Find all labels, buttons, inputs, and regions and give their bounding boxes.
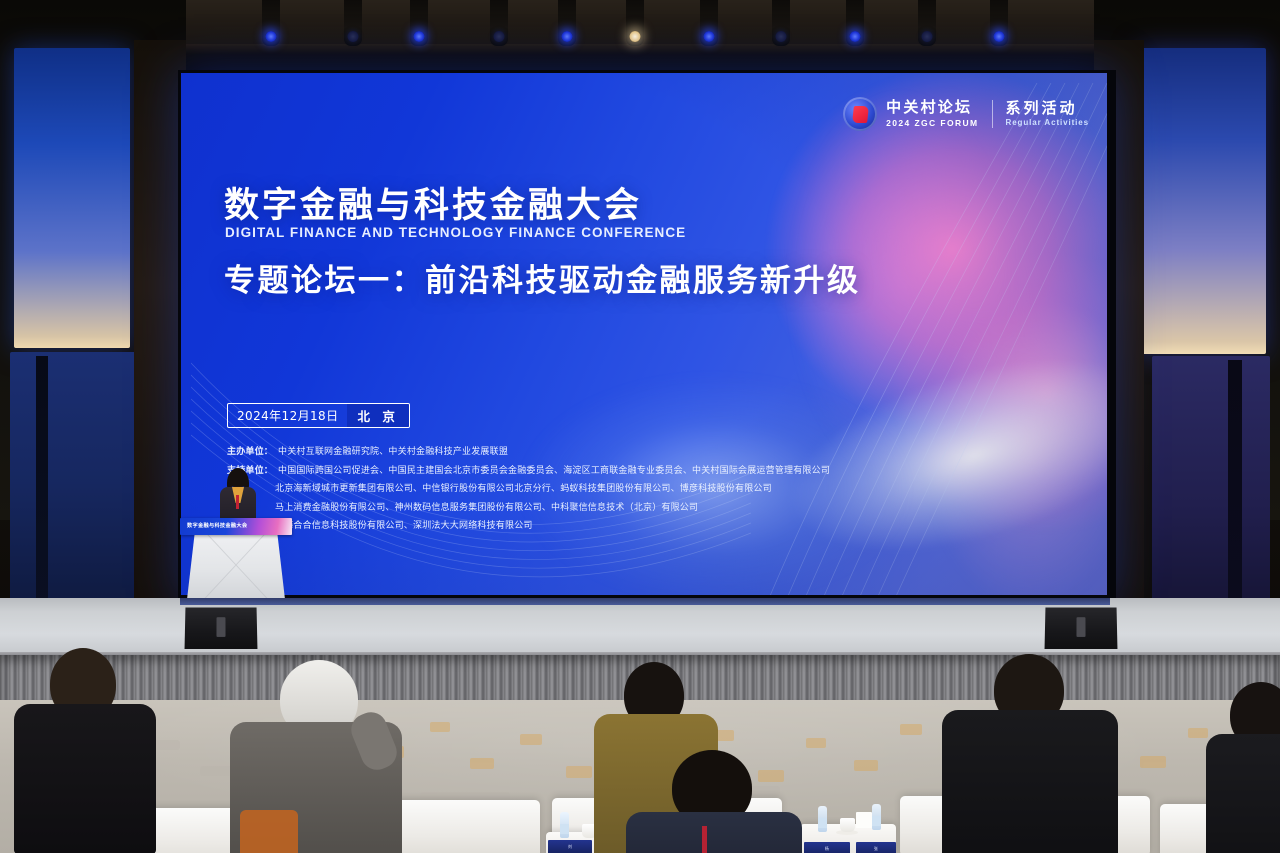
person-body bbox=[942, 710, 1118, 853]
stage-light-fixture bbox=[344, 0, 362, 46]
name-card-text: 杨 bbox=[804, 842, 850, 853]
water-bottle bbox=[872, 804, 881, 830]
wall-panel-lit-right bbox=[1138, 48, 1266, 354]
organizer-line: 主办单位：中关村互联网金融研究院、中关村金融科技产业发展联盟 bbox=[227, 443, 917, 462]
zgc-forum-logo: 中关村论坛 2024 ZGC FORUM 系列活动 Regular Activi… bbox=[843, 97, 1089, 131]
organizer-label: 主办单位： bbox=[227, 447, 273, 457]
led-screen: 中关村论坛 2024 ZGC FORUM 系列活动 Regular Activi… bbox=[178, 70, 1116, 604]
audience-person bbox=[18, 648, 148, 853]
zgc-emblem-icon bbox=[843, 97, 877, 131]
organizer-text: 上海合合信息科技股份有限公司、深圳法大大网络科技有限公司 bbox=[275, 521, 533, 531]
conference-title-en: DIGITAL FINANCE AND TECHNOLOGY FINANCE C… bbox=[225, 225, 686, 240]
audience-person bbox=[1214, 682, 1280, 853]
stage-light-fixture bbox=[410, 0, 428, 46]
audience-person bbox=[946, 654, 1106, 853]
logo-divider bbox=[992, 100, 993, 128]
audience-person bbox=[218, 660, 408, 853]
water-bottle bbox=[560, 812, 569, 838]
name-card: 刘 bbox=[548, 840, 592, 853]
name-card: 杨 bbox=[804, 842, 850, 853]
zgc-series-en: Regular Activities bbox=[1006, 118, 1089, 127]
organizer-text: 中关村互联网金融研究院、中关村金融科技产业发展联盟 bbox=[278, 447, 508, 457]
zgc-logo-cn: 中关村论坛 bbox=[886, 100, 978, 116]
event-city: 北 京 bbox=[347, 404, 408, 427]
organizer-text: 马上消费金融股份有限公司、神州数码信息服务集团股份有限公司、中科聚信信息技术（北… bbox=[275, 503, 698, 513]
organizer-text: 中国国际跨国公司促进会、中国民主建国会北京市委员会金融委员会、海淀区工商联金融专… bbox=[278, 466, 830, 476]
person-body bbox=[626, 812, 802, 853]
name-card-text: 刘 bbox=[548, 840, 592, 853]
zgc-logo-en: 2024 ZGC FORUM bbox=[886, 118, 978, 128]
organizer-text: 北京海新域城市更新集团有限公司、中信银行股份有限公司北京分行、蚂蚁科技集团股份有… bbox=[275, 484, 772, 494]
speaker-lanyard bbox=[236, 495, 239, 509]
led-screen-content: 中关村论坛 2024 ZGC FORUM 系列活动 Regular Activi… bbox=[181, 73, 1107, 595]
organizer-list: 主办单位：中关村互联网金融研究院、中关村金融科技产业发展联盟 支持单位：中国国际… bbox=[227, 443, 917, 536]
stage-light-fixture bbox=[262, 0, 280, 46]
organizer-line: 马上消费金融股份有限公司、神州数码信息服务集团股份有限公司、中科聚信信息技术（北… bbox=[227, 499, 917, 518]
person-scarf bbox=[240, 810, 298, 853]
stage-floor-monitor bbox=[185, 608, 258, 649]
conference-hall-photo: 中关村论坛 2024 ZGC FORUM 系列活动 Regular Activi… bbox=[0, 0, 1280, 853]
event-date: 2024年12月18日 bbox=[228, 404, 347, 427]
podium-name-plate: 数字金融与科技金融大会 bbox=[180, 518, 292, 535]
audience-floor: 杨 张 刘 李 bbox=[0, 700, 1280, 853]
person-lanyard bbox=[702, 826, 707, 853]
stage-light-fixture bbox=[700, 0, 718, 46]
stage-light-fixture bbox=[626, 0, 644, 46]
water-bottle bbox=[818, 806, 827, 832]
organizer-line: 支持单位：中国国际跨国公司促进会、中国民主建国会北京市委员会金融委员会、海淀区工… bbox=[227, 462, 917, 481]
stage-light-fixture bbox=[490, 0, 508, 46]
wall-panel-lit-left bbox=[14, 48, 130, 348]
audience-person bbox=[636, 750, 786, 853]
person-body bbox=[1206, 734, 1280, 853]
ceiling-back-panel bbox=[180, 0, 1110, 46]
paper-card bbox=[856, 812, 872, 828]
date-location-badge: 2024年12月18日 北 京 bbox=[227, 403, 410, 428]
stage-light-fixture bbox=[990, 0, 1008, 46]
podium-area: 数字金融与科技金融大会 bbox=[178, 468, 294, 608]
zgc-series-cn: 系列活动 bbox=[1006, 101, 1089, 117]
name-card-text: 张 bbox=[856, 842, 896, 853]
stage-light-fixture bbox=[918, 0, 936, 46]
organizer-line: 上海合合信息科技股份有限公司、深圳法大大网络科技有限公司 bbox=[227, 517, 917, 536]
ceiling-beam bbox=[0, 44, 1280, 54]
organizer-line: 北京海新域城市更新集团有限公司、中信银行股份有限公司北京分行、蚂蚁科技集团股份有… bbox=[227, 480, 917, 499]
stage-light-fixture bbox=[846, 0, 864, 46]
stage-floor-monitor bbox=[1045, 608, 1118, 649]
conference-title-cn: 数字金融与科技金融大会 bbox=[224, 177, 642, 228]
stage-light-fixture bbox=[772, 0, 790, 46]
person-body bbox=[14, 704, 156, 853]
podium-plate-text: 数字金融与科技金融大会 bbox=[187, 522, 247, 529]
name-card: 张 bbox=[856, 842, 896, 853]
stage-light-fixture bbox=[558, 0, 576, 46]
forum-subtitle: 专题论坛一：前沿科技驱动金融服务新升级 bbox=[224, 255, 861, 300]
coffee-cup bbox=[840, 818, 855, 832]
